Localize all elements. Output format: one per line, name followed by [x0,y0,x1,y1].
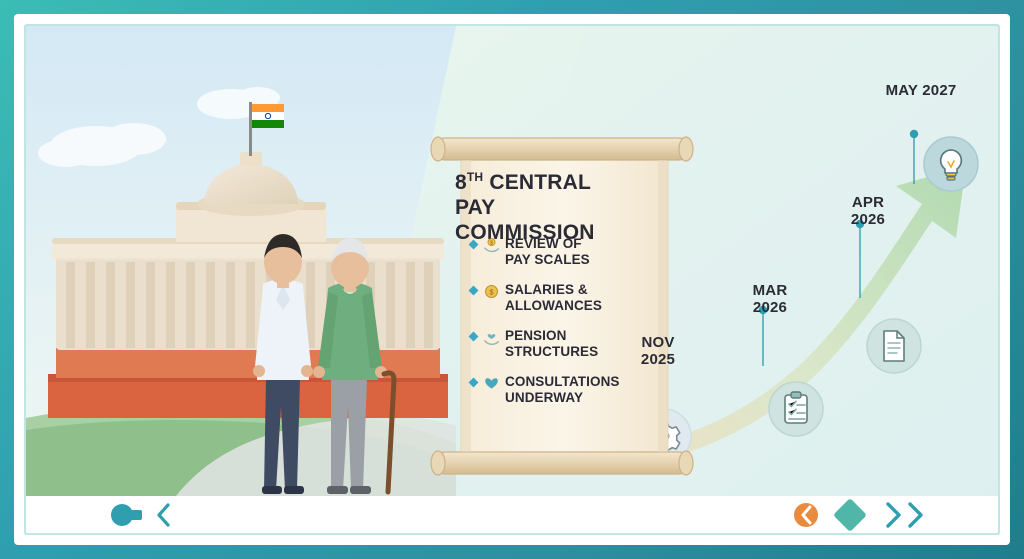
hand-coin-icon: $ [483,237,500,254]
list-item-label: REVIEW OFPAY SCALES [505,236,590,267]
list-item: $ SALARIES &ALLOWANCES [470,282,645,313]
corner-ornament-bottom-right [964,499,1000,535]
video-chevron-icon [111,504,149,526]
hand-heart-icon [483,329,500,346]
list-item: $ REVIEW OFPAY SCALES [470,236,645,267]
bullet-marker-icon [469,378,479,388]
scroll-bullet-list: $ REVIEW OFPAY SCALES $ SALARIES &ALLOWA… [470,236,645,420]
list-item-label: CONSULTATIONSUNDERWAY [505,374,620,405]
chevron-left-icon [159,505,168,525]
corner-ornament-top-left [24,24,60,60]
corner-ornament-top-right [964,24,1000,60]
bullet-marker-icon [469,286,479,296]
bullet-marker-icon [469,332,479,342]
bottom-control-bar [26,496,998,533]
list-item: CONSULTATIONSUNDERWAY [470,374,645,405]
corner-ornament-bottom-left [24,499,60,535]
timeline-label-nov-2025: NOV2025 [618,334,698,368]
indian-flag [252,104,284,128]
list-item-label: SALARIES &ALLOWANCES [505,282,602,313]
circle-chevron-left-icon [794,503,818,527]
scroll-title: 8TH CENTRAL PAY COMMISSION [455,165,640,245]
timeline-label-apr-2026: APR2026 [828,194,908,228]
timeline-badge-4 [924,137,978,191]
coin-icon: $ [483,283,500,300]
chevron-right-icon [910,504,921,526]
scroll-title-line1: 8TH CENTRAL [455,171,591,194]
heart-icon [483,375,500,392]
bullet-marker-icon [469,240,479,250]
infographic-root: 8TH CENTRAL PAY COMMISSION $ REVIEW OFPA… [0,0,1024,559]
list-item-label: PENSIONSTRUCTURES [505,328,598,359]
timeline-badge-2 [769,382,823,436]
timeline-badge-3 [867,319,921,373]
timeline-label-mar-2026: MAR2026 [730,282,810,316]
timeline-label-may-2027: MAY 2027 [866,82,976,99]
chevron-right-icon [888,504,899,526]
svg-text:$: $ [490,240,493,246]
diamond-icon [833,498,867,532]
